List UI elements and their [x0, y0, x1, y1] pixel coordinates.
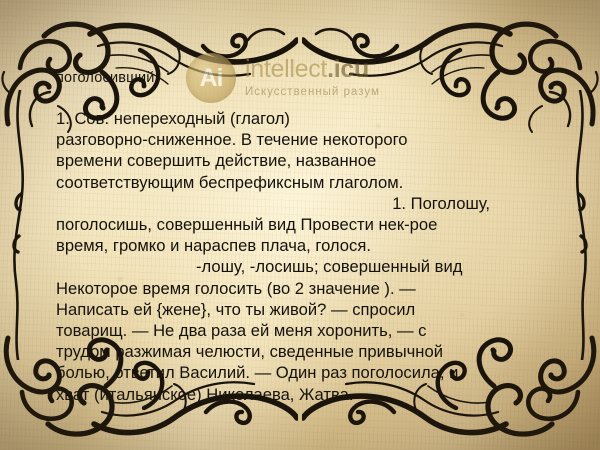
entry-line: поголосишь, совершенный вид Провести нек…	[56, 214, 548, 235]
entry-line: 1. Сов. непереходный (глагол)	[56, 108, 548, 129]
slide-canvas: поголосивший Ai intellect.icu Искусствен…	[0, 0, 600, 450]
entry-line: Некоторое время голосить (во 2 значение …	[56, 278, 548, 299]
ai-logo-icon: Ai	[186, 53, 236, 103]
watermark-text: intellect.icu Искусственный разум	[245, 57, 380, 99]
ornament-edge-left-icon	[2, 90, 36, 360]
entry-line: трудом разжимая челюсти, сведенные привы…	[56, 341, 548, 362]
ornament-edge-right-icon	[564, 90, 598, 360]
watermark-brand-prefix: intellect	[245, 55, 327, 83]
entry-line: время, громко и нараспев плача, голося.	[56, 235, 548, 256]
entry-line: хват (итальянское) Николаева, Жатва.	[56, 384, 548, 405]
entry-line: времени совершить действие, названное	[56, 150, 548, 171]
entry-line: -лошу, -лосишь; совершенный вид	[56, 256, 548, 277]
page-title: поголосивший	[56, 70, 155, 86]
watermark-tagline: Искусственный разум	[245, 87, 380, 99]
entry-line: разговорно-сниженное. В течение некоторо…	[56, 129, 548, 150]
watermark-brand-suffix: .icu	[327, 55, 369, 83]
watermark: Ai intellect.icu Искусственный разум	[186, 50, 426, 106]
watermark-brand: intellect.icu	[245, 57, 380, 82]
entry-line: товарищ. — Не два раза ей меня хоронить,…	[56, 320, 548, 341]
entry-line: соответствующим беспрефиксным глаголом.	[56, 172, 548, 193]
entry-line: болью, ответил Василий. — Один раз погол…	[56, 362, 548, 383]
entry-line: Написать ей {жене}, что ты живой? — спро…	[56, 299, 548, 320]
dictionary-entry-body: 1. Сов. непереходный (глагол) разговорно…	[56, 108, 548, 405]
entry-line: 1. Поголошу,	[56, 193, 548, 214]
